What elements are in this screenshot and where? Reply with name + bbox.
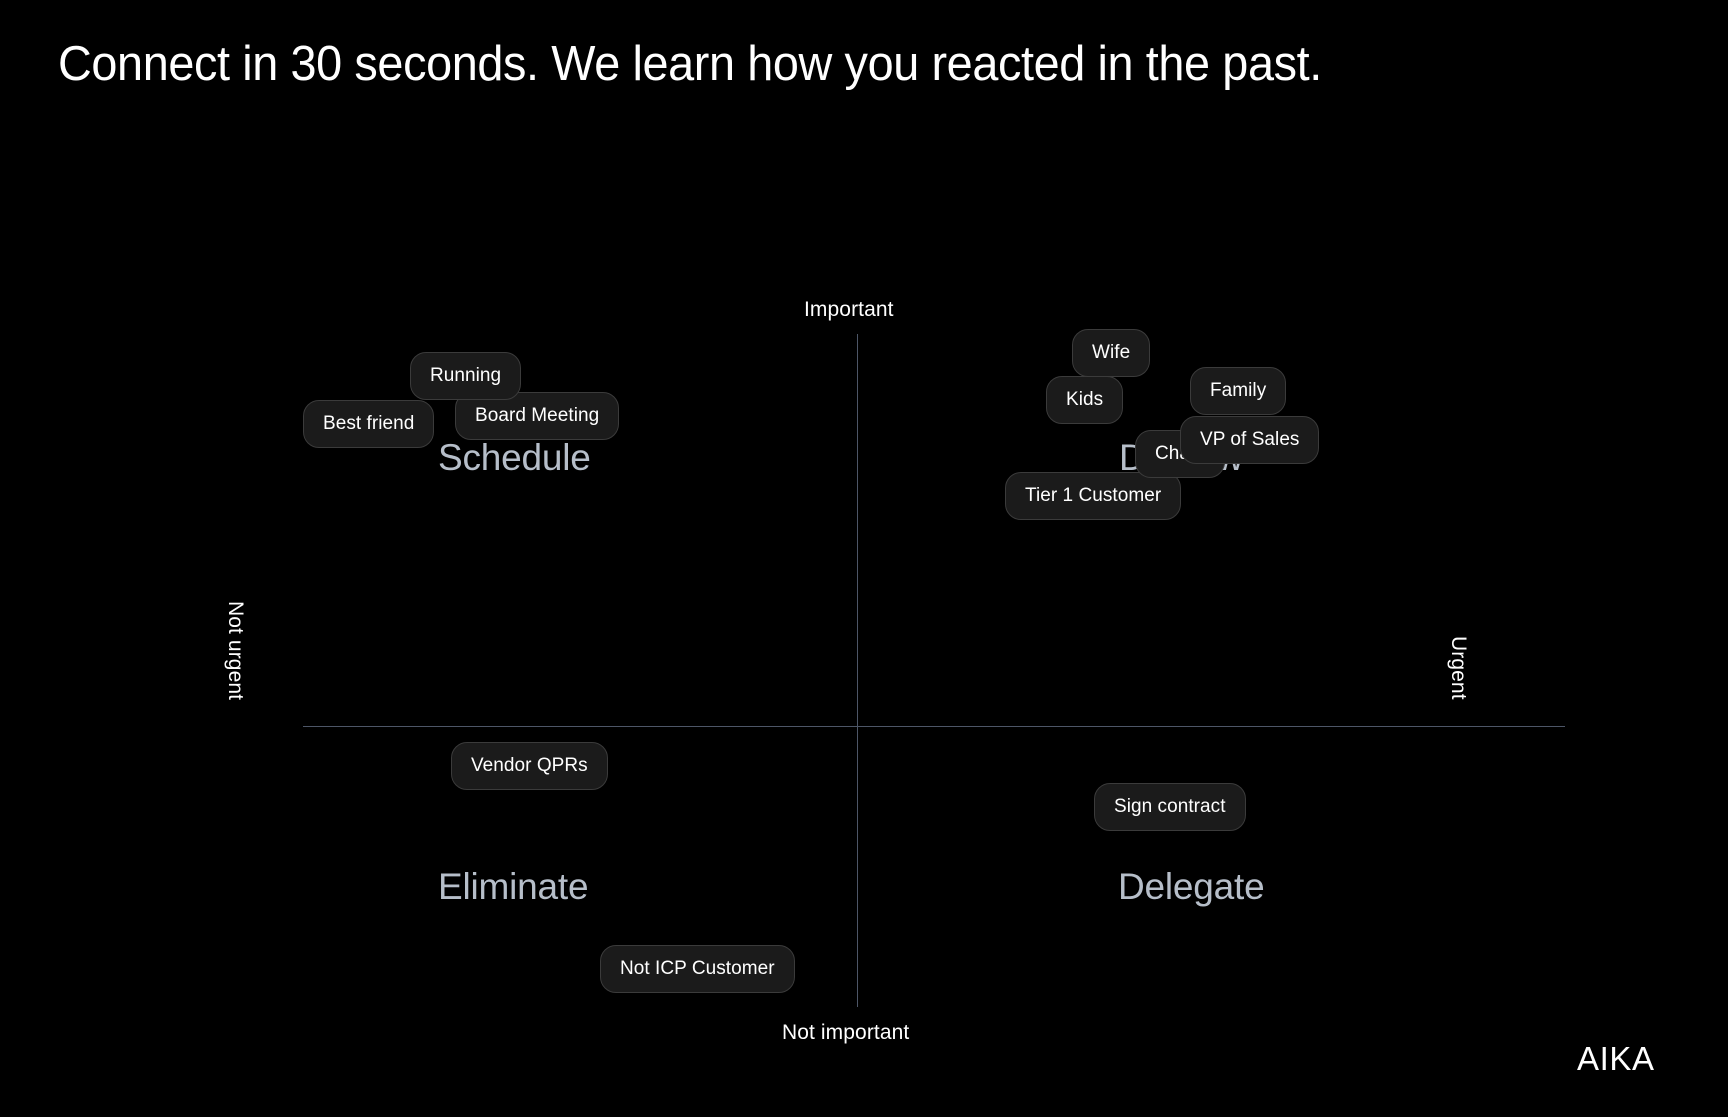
pill-sign-contract[interactable]: Sign contract <box>1094 783 1246 831</box>
brand-logo-aika: AIKA <box>1577 1040 1655 1078</box>
pill-not-icp-customer[interactable]: Not ICP Customer <box>600 945 795 993</box>
pill-tier-1-customer[interactable]: Tier 1 Customer <box>1005 472 1181 520</box>
axis-label-important: Important <box>804 298 894 322</box>
vertical-axis-line <box>857 334 858 1007</box>
pill-family[interactable]: Family <box>1190 367 1286 415</box>
quadrant-label-schedule: Schedule <box>438 437 591 479</box>
pill-best-friend[interactable]: Best friend <box>303 400 434 448</box>
quadrant-label-eliminate: Eliminate <box>438 866 588 908</box>
quadrant-label-delegate: Delegate <box>1118 866 1265 908</box>
pill-vendor-qprs[interactable]: Vendor QPRs <box>451 742 608 790</box>
pill-vp-of-sales[interactable]: VP of Sales <box>1180 416 1319 464</box>
slide-canvas: Connect in 30 seconds. We learn how you … <box>0 0 1728 1117</box>
axis-label-urgent: Urgent <box>1446 636 1470 700</box>
eisenhower-matrix: Important Not important Not urgent Urgen… <box>0 0 1728 1117</box>
axis-label-not-important: Not important <box>782 1021 909 1045</box>
pill-running[interactable]: Running <box>410 352 521 400</box>
horizontal-axis-line <box>303 726 1565 727</box>
pill-wife[interactable]: Wife <box>1072 329 1150 377</box>
pill-kids[interactable]: Kids <box>1046 376 1123 424</box>
axis-label-not-urgent: Not urgent <box>223 601 247 700</box>
